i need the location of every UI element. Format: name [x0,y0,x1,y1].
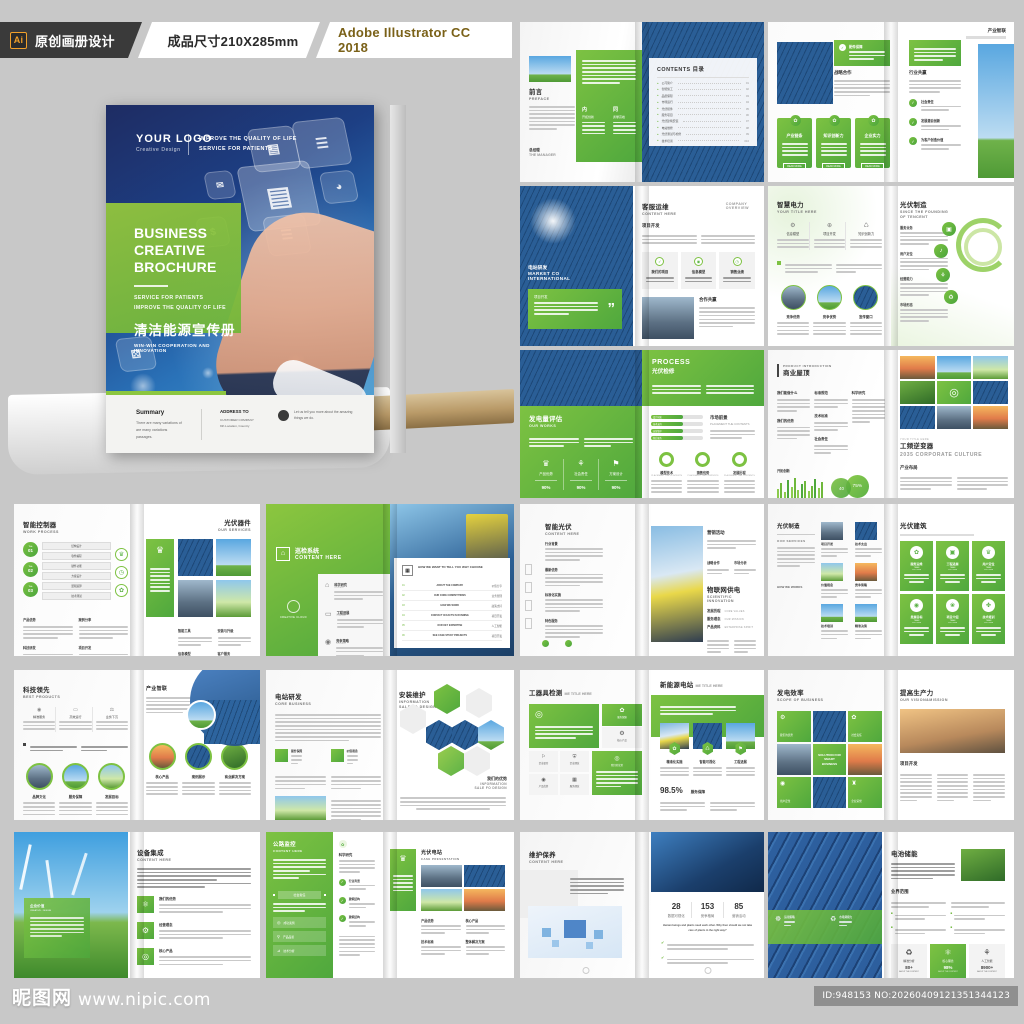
card-icon: ❀ [946,599,959,612]
metric-label: 产品优势 [529,471,563,476]
cover-title-line-2: CREATIVE [134,242,241,259]
metric: ⚑方案设计90% [599,459,633,490]
thumbnail-smart-power[interactable]: 智慧电力 YOUR TITLE HERE ⚙ 信息模型 ⊕ 项目开发 ♺ 知识创… [768,186,1014,346]
contents-item[interactable]: ●技术培训010 [657,139,749,143]
thumbnail-inspection-system[interactable]: ⌂ 巡检系统 CONTENT HERE CREATIVE CLOUD ⌂科学研究… [266,504,514,656]
contents-page-number: 02 [746,87,749,91]
stat-value: 153 [692,902,722,911]
title-divider [134,285,168,287]
item-icon: ⌂ [325,582,329,589]
item-icon: ⚛ [137,896,154,913]
bullet-row: ✓为客户创造价值 [909,137,961,151]
cover-english-subtitle: WIN-WIN COOPERATION AND INNOVATION [134,343,241,353]
metric: ⚘社会责任90% [564,459,599,490]
thumbnail-work-process[interactable]: 智能控制器 WORK PROCESS Title01Title02Title03… [14,504,260,656]
thumbnail-industry-cooperation[interactable]: 产业链条 READ MORE 知识创新力 READ MORE 企业实力 READ… [768,22,1014,182]
metric-value: 90% [529,485,563,490]
inspection-list-row[interactable]: 03HOW WE WORK政策支持 [402,601,502,611]
pie-tile-icon: ◕ [319,170,360,205]
contents-page-number: 05 [746,107,749,111]
metric-icon: ♛ [529,459,563,468]
inspection-list-row[interactable]: 01ABOUT THE COMPANY价值分享 [402,581,502,591]
process-rings: 模型技术PLACEMENT THE CONTENTS销售优势PLACEMENT … [651,452,755,495]
check-icon: ✓ [909,137,917,145]
item-icon: ⚲ [277,934,280,939]
inspection-items: ⌂科学研究CONTENT▭工程进展CONTENT◉竞争策略CONTENT [325,582,383,656]
card-icon: ⚛ [933,948,963,957]
card-value: 80+ [894,965,924,970]
inspection-list-row[interactable]: 02OUR CORE COMPETITIONS业务管理 [402,591,502,601]
site-url: www.nipic.com [78,990,211,1010]
equipment-item: ◎核心产品 [137,948,251,967]
manufacturing-item: 技术培训 [821,604,848,641]
item-icon: ▭ [325,610,332,618]
contents-page-number: 06 [746,113,749,117]
section-block: 服务业务 [900,225,948,245]
bullet-icon: ● [657,94,659,97]
site-name-cn: 昵图网 [12,983,72,1010]
section-block: 标准化实施 [545,592,603,612]
item-icon: ◎ [277,920,281,925]
progress-bar: 技术支持 [651,422,703,426]
section-block: 市场形态 [900,302,948,322]
address-text: CUSTOMER COMPANY 9th Location, Country [220,418,254,430]
contents-item[interactable]: ●服务项目06 [657,113,749,117]
check-icon: ✓ [339,879,346,886]
equipment-items: ⚛我们的优势⚙经营理念◎核心产品 [137,896,251,967]
contents-title: CONTENTS 目录 [657,65,749,73]
photo-grid: ◎ [900,356,1008,429]
manufacturing-item: 技术支出 [855,522,882,559]
flow-item: 方案设计 [42,572,111,580]
process-step: Title01 [23,542,38,557]
inspection-list-row[interactable]: 05OUR KEY EXPERTISE人工智能 [402,621,502,631]
contents-page-number: 08 [746,126,749,130]
contents-item-label: 电站维修 [662,126,673,130]
contents-item-label: 市场运行 [662,100,673,104]
illustrator-icon: Ai [10,32,27,49]
banner-size: 成品尺寸210X285mm [138,22,320,58]
summary-text: There are many variations of are many va… [136,420,183,440]
pv-building-card: ▣工程进展TEAMCULTURE [936,541,969,591]
flow-item: 软件编程 [42,552,111,560]
cover-title-panel: BUSINESS CREATIVE BROCHURE SERVICE FOR P… [106,203,241,333]
work-process-flow: 结构设计软件编程硬件功能方案设计逻辑运算技术测试 [42,542,111,602]
contents-page-number: 010 [744,139,749,143]
tagline-line-2: SERVICE FOR PATIENTS [199,144,297,154]
thumbnail-maintenance[interactable]: 维护保养 CONTENT HERE 28数据可视化153竞争格局85营销活动 H… [520,832,764,978]
check-icon: ✓ [339,897,346,904]
thumbnail-market-co[interactable]: 电站研发 MARKET CO INTERNATIONAL 项目开发 ” 客服运维… [520,186,764,346]
bullet-icon: ● [657,133,659,136]
progress-bar: 运营维护 [651,429,703,433]
battery-card: ⚘人工智能8900+ABOUT THE CONTENT [969,944,1005,978]
cover-pages-edge [390,105,406,453]
address-title: ADDRESS TO [220,409,254,414]
thumbnail-process-evaluation[interactable]: 发电量评估 OUR WORKS ♛产品优势90%⚘社会责任90%⚑方案设计90%… [520,350,764,498]
contents-page-number: 03 [746,94,749,98]
inspection-item: ◉竞争策略CONTENT [325,638,383,656]
section-block: 行业背景 [545,541,603,561]
card-icon: ✤ [982,599,995,612]
summary-block: Summary There are many variations of are… [136,409,183,440]
stat-block: 153竞争格局 [692,902,723,918]
thumbnail-equipment-integration[interactable]: 企业价值 CREATIVE · DESIGN 设备集成 CONTENT HERE… [14,832,260,978]
cover-chinese-title: 清洁能源宣传册 [134,319,241,339]
stat-value: 85 [724,902,754,911]
stat-block: 85营销活动 [724,902,754,918]
pv-building-card: ♛用户定位TEAMCULTURE [972,541,1005,591]
bullet-icon: ● [657,139,659,142]
inspection-list-row[interactable]: 06SEE CASE STUDY PROJECTS项目开发 [402,631,502,641]
cover-sub-line-1: SERVICE FOR PATIENTS [134,294,241,304]
summary-title: Summary [136,409,183,416]
cover-sub-line-2: IMPROVE THE QUALITY OF LIFE [134,304,241,314]
highway-items: ◎成功案例⚲产品品鉴⊿技术分析 [273,917,326,956]
pv-building-card: ✿服务运维TEAMCULTURE [900,541,933,591]
process-bars: 设计研发技术支持运营维护售后服务 [651,415,703,443]
contents-item-label: 服务项目 [662,113,673,117]
section-block: 特色服务 [545,618,603,638]
thumbnail-battery-storage[interactable]: ☸ 运用策略 ♻ 市场洞察力 电池储能 业界范围 [768,832,1014,978]
section-block: 最新优势 [545,567,603,587]
highway-item: ⊿技术分析 [273,945,326,956]
item-icon: ◎ [137,948,154,965]
highway-bullets: ✓行业背景✓建筑结构✓建筑结构 [339,879,375,929]
stat-block: 28数据可视化 [661,902,692,918]
pv-building-card: ✤技术培训TEAMCULTURE [972,594,1005,644]
contents-item-label: 光伏建筑安装 [662,119,679,123]
bullet-icon: ● [657,82,659,85]
manufacturing-item: 竞争策略 [855,563,882,600]
thumbnail-highway-monitoring[interactable]: 公路监控 CONTENT HERE 社会责任 ◎成功案例⚲产品品鉴⊿技术分析 ✿… [266,832,514,978]
thumbnail-business-top[interactable]: PRODUCT INTRODUCTION 商业屋顶 我们能做什么 我们的优势 标… [768,350,1014,498]
stat-value: 28 [661,902,691,911]
value-row: 产品资料ENTERPRISE SPIRIT [707,624,756,629]
card-icon: ♛ [982,546,995,559]
ring-item: 销售优势PLACEMENT THE CONTENTS [687,452,718,495]
value-row: 发展历程CORE VALUES [707,608,756,613]
value-row: 服务理念OUR MISSION [707,616,756,621]
cover-title-line-3: BROCHURE [134,259,241,276]
contents-item[interactable]: ●电站维修08 [657,126,749,130]
thumbnail-smart-pv[interactable]: 智能光伏 CONTENT HERE 行业背景最新优势标准化实施特色服务 营销活动 [520,504,764,656]
ring-item: 发展历程PLACEMENT THE CONTENTS [724,452,755,495]
card-icon: ⚘ [972,948,1002,957]
card-icon: ▣ [946,546,959,559]
manufacturing-item: 价值观念 [821,563,848,600]
card-icon: ♻ [894,948,924,957]
work-process-steps: Title01Title02Title03 [23,542,38,602]
process-step: Title02 [23,562,38,577]
check-icon: ✓ [339,915,346,922]
banner-software: Adobe Illustrator CC 2018 [316,22,512,58]
stat-label: 营销活动 [724,913,754,918]
cover-tagline: IMPROVE THE QUALITY OF LIFE SERVICE FOR … [188,134,297,155]
card-value: 98% [933,965,963,970]
process-step: Title03 [23,582,38,597]
contents-item[interactable]: ●光伏测试与检修09 [657,132,749,136]
bullet-row: ✓发展潜自创新 [909,118,961,132]
thumbnail-preface-contents[interactable]: 前言 PREFACE 总经理THE MANAGER 内 开拓创新 同 [520,22,764,182]
metric-icon: ⚘ [564,459,598,468]
top-banner: Ai 原创画册设计 成品尺寸210X285mm Adobe Illustrato… [0,22,512,58]
manufacturing-item: 精准决策 [855,604,882,641]
asset-id-label: ID:948153 NO:20260409121351344123 [814,986,1018,1006]
cover-wood-board [362,389,514,431]
contents-list: ●公司简介01●智能施工02●品质保障03●市场运行04●光伏组件05●服务项目… [657,81,749,143]
cta-text: Let us tell you more about the amazing t… [294,409,356,422]
contents-page-number: 09 [746,132,749,136]
equipment-item: ⚙经营理念 [137,922,251,941]
cover-preview: ▤ ☰ ▤ ✉ ◕ ☰ $ ⚄ YOUR LOGO Creativ [100,105,390,465]
inspection-item: ▭工程进展CONTENT [325,610,383,630]
item-icon: ⚙ [137,922,154,939]
cover-title-line-1: BUSINESS [134,225,241,242]
cover-footer: Summary There are many variations of are… [106,395,374,453]
city-photo [529,56,571,82]
manufacturing-item: 项目开发 [821,522,848,559]
flow-item: 结构设计 [42,542,111,550]
contents-item-label: 光伏测试与检修 [662,132,682,136]
thumbnail-core-business[interactable]: 电站研发 CORE BUSINESS 服务保障 价值观念 [266,670,514,820]
contents-item-label: 光伏组件 [662,107,673,111]
stat-label: 数据可视化 [661,913,691,918]
contents-item[interactable]: ●光伏建筑安装07 [657,119,749,123]
inspection-item: ⌂科学研究CONTENT [325,582,383,602]
progress-bar: 售后服务 [651,436,703,440]
pv-building-card: ❀项目介绍TEAMCULTURE [936,594,969,644]
cta-block: Let us tell you more about the amazing t… [278,409,356,422]
thumbnail-best-products[interactable]: 科技领先 BEST PRODUCTS ◉ 精准服务 ▭ 高效运行 ⚖ 业务下沉 [14,670,260,820]
tag-tile-icon: ✉ [203,170,237,200]
contents-page-number: 04 [746,100,749,104]
cta-dot-icon [278,410,289,421]
metric-value: 90% [564,485,598,490]
bullet-row: ✓建筑结构 [339,915,375,928]
metric: ♛产品优势90% [529,459,564,490]
contents-item-label: 公司简介 [662,81,673,85]
pv-building-cards: ✿服务运维TEAMCULTURE▣工程进展TEAMCULTURE♛用户定位TEA… [900,541,1005,644]
inspection-list-row[interactable]: 04CONTACT IN FACTS IS RUNNING项目开发 [402,611,502,621]
efficiency-tiles: ⚙我们的优势 ✿社会责任 SOLUTION FOR SMART BUSINESS… [777,711,882,808]
item-icon: ⊿ [277,948,280,953]
battery-card: ⚛核心理念98%ABOUT THE CONTENT [930,944,966,978]
bullet-icon: ● [657,120,659,123]
site-watermark: 昵图网 www.nipic.com [12,983,211,1010]
mini-bar-chart: 40 75% [777,476,885,498]
contents-page-number: 07 [746,119,749,123]
maintenance-stats: 28数据可视化153竞争格局85营销活动 [661,902,754,918]
thumbnail-pv-manufacturing[interactable]: 光伏制造 OUR SERVICES HOW WE WORKS 项目开发 技术支出 [768,504,1014,656]
metric-label: 社会责任 [564,471,598,476]
banner-category-label: 原创画册设计 [35,31,115,50]
highway-item: ⚲产品品鉴 [273,931,326,942]
bullet-icon: ● [657,113,659,116]
contents-item-label: 技术培训 [662,139,673,143]
contents-item[interactable]: ●光伏组件05 [657,107,749,111]
contents-item[interactable]: ●市场运行04 [657,100,749,104]
pv-building-card: ◉发展目标TEAMCULTURE [900,594,933,644]
flow-item: 硬件功能 [42,562,111,570]
inspection-list: 01ABOUT THE COMPANY价值分享02OUR CORE COMPET… [402,581,502,641]
footer-divider [201,409,202,440]
address-block: ADDRESS TO CUSTOMER COMPANY 9th Location… [220,409,254,430]
check-icon: ✓ [909,99,917,107]
item-icon: ◉ [325,638,331,646]
contents-item[interactable]: ●公司简介01 [657,81,749,85]
ring-item: 模型技术PLACEMENT THE CONTENTS [651,452,682,495]
contents-item[interactable]: ●品质保障03 [657,94,749,98]
contents-item[interactable]: ●智能施工02 [657,87,749,91]
metric-label: 方案设计 [599,471,633,476]
equipment-item: ⚛我们的优势 [137,896,251,915]
bokeh-dot [202,367,214,379]
metric-value: 90% [599,485,633,490]
cooperation-bullets: ✓社会责任✓发展潜自创新✓为客户创造价值 [909,99,961,152]
bullet-icon: ● [657,126,659,129]
check-icon: ✓ [909,118,917,126]
tagline-line-1: IMPROVE THE QUALITY OF LIFE [199,134,297,144]
progress-bar: 设计研发 [651,415,703,419]
bullet-row: ✓社会责任 [909,99,961,113]
contents-item-label: 智能施工 [662,87,673,91]
stat-label: 竞争格局 [692,913,722,918]
smart-pv-sections: 行业背景最新优势标准化实施特色服务 [545,541,603,638]
thumbnail-tool-detection[interactable]: 工器具检测 ME TITLE HERE ◎ ✿ 服务保障 ⚙ 核心产品 [520,670,764,820]
highway-item: ◎成功案例 [273,917,326,928]
metric-icon: ⚑ [599,459,633,468]
card-icon: ◉ [910,599,923,612]
bullet-icon: ● [657,101,659,104]
battery-card: ♻精准分析80+ABOUT THE CONTENT [891,944,927,978]
bullet-row: ✓建筑结构 [339,897,375,910]
bullet-icon: ● [657,88,659,91]
bullet-icon: ● [657,107,659,110]
bullet-row: ✓行业背景 [339,879,375,892]
banner-category: Ai 原创画册设计 [0,22,142,58]
process-metrics: ♛产品优势90%⚘社会责任90%⚑方案设计90% [529,459,633,490]
contents-item-label: 品质保障 [662,94,673,98]
smart-pv-right-items: 发展历程CORE VALUES服务理念OUR MISSION产品资料ENTERP… [707,608,756,629]
cover-page: ▤ ☰ ▤ ✉ ◕ ☰ $ ⚄ YOUR LOGO Creativ [106,105,374,453]
thumbnail-generation-efficiency[interactable]: 发电效率 SCOPE OF BUSINESS ⚙我们的优势 ✿社会责任 SOLU… [768,670,1014,820]
chart-tile-icon: ⚄ [114,335,157,372]
flow-item: 逻辑运算 [42,582,111,590]
contents-page-number: 01 [746,81,749,85]
card-value: 8900+ [972,965,1002,970]
card-icon: ✿ [910,546,923,559]
battery-cards: ♻精准分析80+ABOUT THE CONTENT⚛核心理念98%ABOUT T… [891,944,1005,978]
flow-item: 技术测试 [42,592,111,600]
